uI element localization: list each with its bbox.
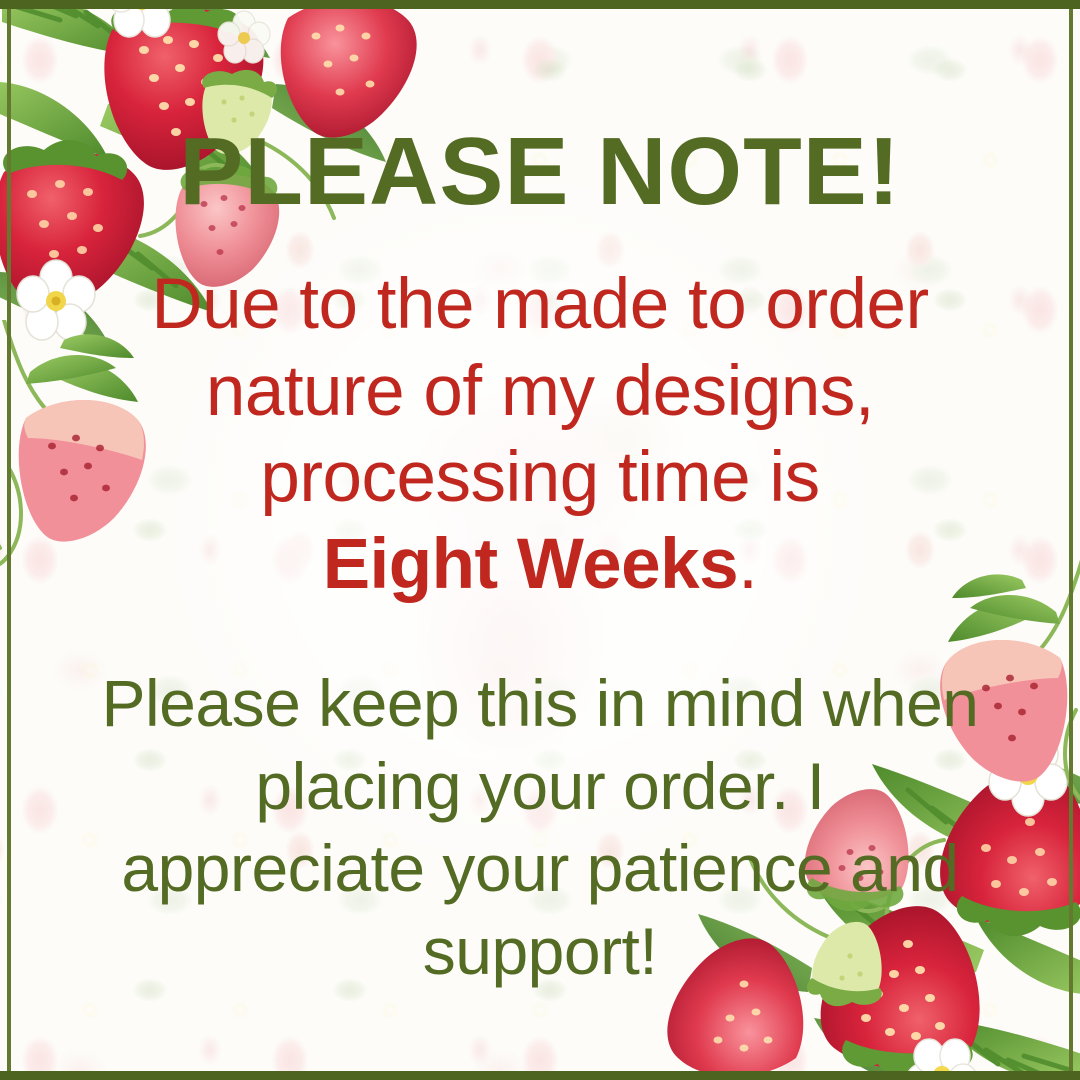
processing-time-notice: Due to the made to order nature of my de…: [60, 262, 1020, 608]
processing-time-value: Eight Weeks: [323, 525, 738, 604]
notice-content: PLEASE NOTE! Due to the made to order na…: [0, 0, 1080, 992]
notice-line-2: nature of my designs,: [60, 349, 1020, 436]
notice-line-3: processing time is: [60, 435, 1020, 522]
closing-line-3: appreciate your patience and: [60, 827, 1020, 910]
page-title: PLEASE NOTE!: [60, 124, 1020, 220]
frame-band-bottom: [0, 1071, 1080, 1080]
closing-line-1: Please keep this in mind when: [60, 662, 1020, 745]
notice-line-1: Due to the made to order: [60, 262, 1020, 349]
closing-line-4: support!: [60, 910, 1020, 993]
notice-line-4: Eight Weeks.: [60, 522, 1020, 609]
please-note-card: PLEASE NOTE! Due to the made to order na…: [0, 0, 1080, 1080]
notice-period: .: [738, 525, 757, 604]
closing-message: Please keep this in mind when placing yo…: [60, 662, 1020, 992]
closing-line-2: placing your order. I: [60, 745, 1020, 828]
